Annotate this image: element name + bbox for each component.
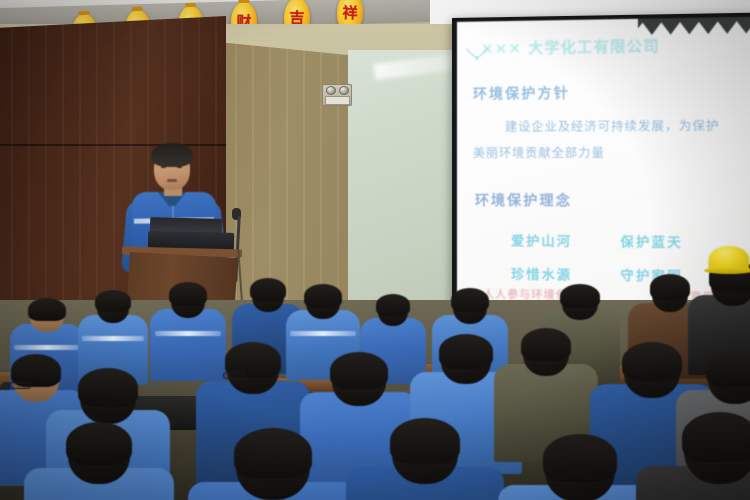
audience-row-front	[0, 0, 750, 500]
photo-scene: 恭喜发财吉祥 ××× 大学化工有限公司 环境保护方针 建设企业及经济可持续发展，…	[0, 0, 750, 500]
audience-hair	[234, 428, 312, 478]
audience-hair	[682, 412, 750, 462]
audience-member	[24, 424, 174, 500]
audience-hair	[66, 422, 132, 465]
audience-member	[346, 420, 504, 500]
audience-member	[636, 414, 750, 500]
audience-hair	[543, 434, 617, 482]
audience-member	[188, 430, 358, 500]
audience-hair	[390, 418, 460, 464]
